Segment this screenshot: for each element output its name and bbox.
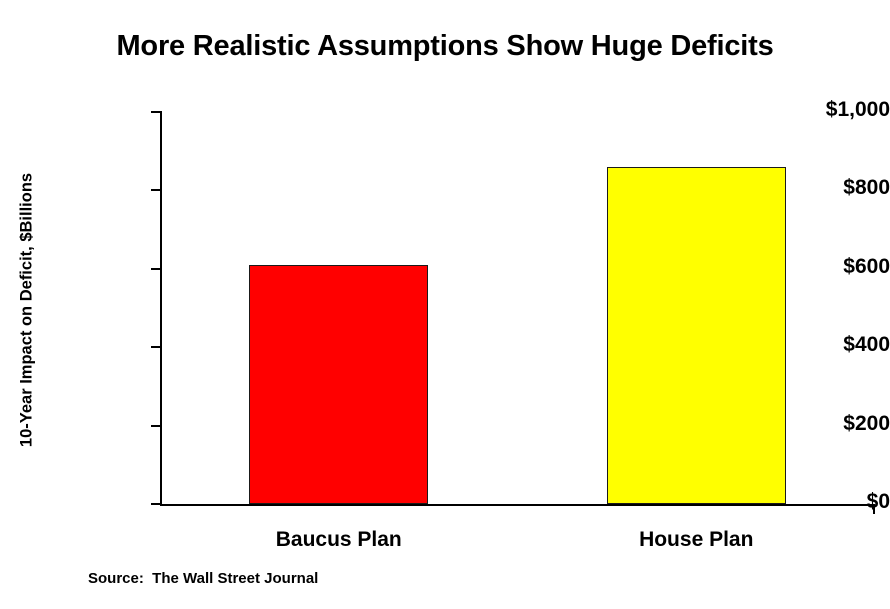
- bar-chart: More Realistic Assumptions Show Huge Def…: [0, 0, 890, 609]
- category-label-baucus-plan: Baucus Plan: [160, 528, 518, 552]
- y-tick-mark: [151, 425, 162, 427]
- bar-baucus-plan[interactable]: [249, 265, 428, 504]
- y-tick-mark: [151, 111, 162, 113]
- y-tick-mark: [151, 189, 162, 191]
- y-axis-title: 10-Year Impact on Deficit, $Billions: [12, 100, 42, 520]
- source-note: Source: The Wall Street Journal: [88, 570, 318, 587]
- y-axis-title-text: 10-Year Impact on Deficit, $Billions: [18, 173, 37, 447]
- category-label-house-plan: House Plan: [518, 528, 876, 552]
- y-tick-mark: [151, 503, 162, 505]
- chart-title: More Realistic Assumptions Show Huge Def…: [0, 30, 890, 63]
- bar-house-plan[interactable]: [607, 167, 786, 504]
- y-tick-label: $1,000: [742, 98, 890, 122]
- y-tick-mark: [151, 268, 162, 270]
- y-axis-line: [160, 112, 162, 506]
- y-tick-mark: [151, 346, 162, 348]
